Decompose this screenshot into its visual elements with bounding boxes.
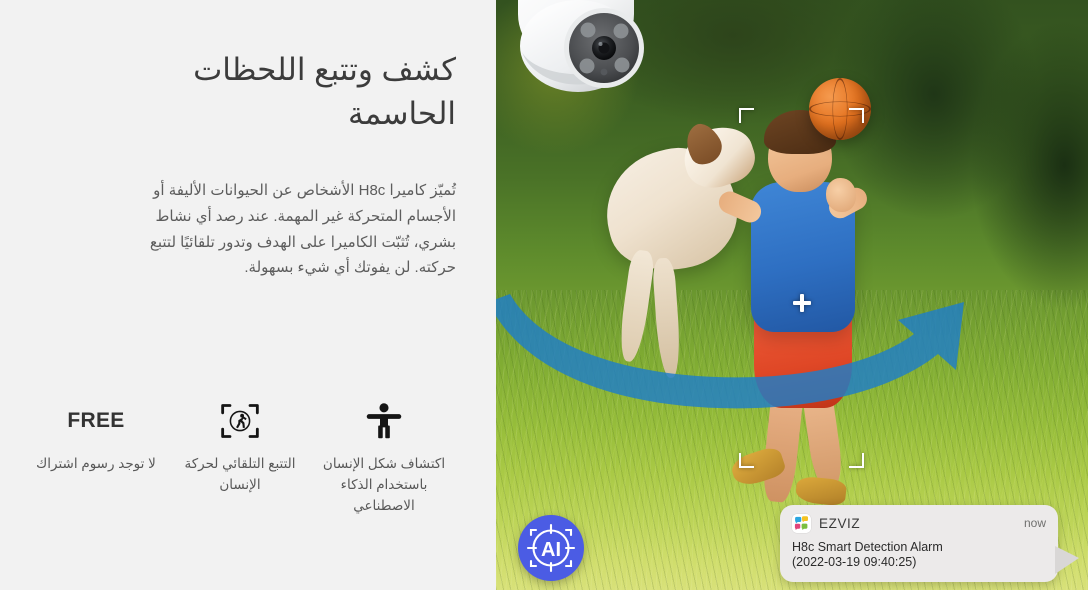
- product-feature-page: AI EZVIZ now H8c S: [0, 0, 1088, 590]
- feature-label: اكتشاف شكل الإنسان باستخدام الذكاء الاصط…: [312, 454, 456, 517]
- human-shape-detection-icon: [364, 398, 404, 444]
- human-tracking-frame: [739, 108, 864, 468]
- notification-tail: [1055, 546, 1079, 574]
- notification-app-name: EZVIZ: [819, 516, 860, 531]
- tracking-bracket-bottom-right: [849, 453, 864, 468]
- feature-auto-tracking: التتبع التلقائي لحركة الإنسان: [168, 398, 312, 517]
- push-notification-card[interactable]: EZVIZ now H8c Smart Detection Alarm (202…: [780, 505, 1058, 582]
- page-title: كشف وتتبع اللحظات الحاسمة: [126, 48, 456, 136]
- crosshair-icon: [793, 294, 811, 312]
- feature-label: لا توجد رسوم اشتراك: [36, 454, 156, 475]
- notification-header: EZVIZ now: [792, 514, 1046, 533]
- tracking-bracket-top-right: [849, 108, 864, 123]
- hero-image: AI EZVIZ now H8c S: [496, 0, 1088, 590]
- tracking-bracket-top-left: [739, 108, 754, 123]
- ai-badge: AI: [518, 515, 584, 581]
- feature-list: اكتشاف شكل الإنسان باستخدام الذكاء الاصط…: [24, 398, 456, 517]
- tracking-bracket-bottom-left: [739, 453, 754, 468]
- auto-tracking-icon: [219, 398, 261, 444]
- ptz-camera-icon: [504, 0, 654, 112]
- feature-human-shape-detection: اكتشاف شكل الإنسان باستخدام الذكاء الاصط…: [312, 398, 456, 517]
- notification-time: now: [1024, 516, 1046, 530]
- panel-text-block: كشف وتتبع اللحظات الحاسمة تُميّز كاميرا …: [40, 48, 456, 281]
- notification-title: H8c Smart Detection Alarm: [792, 540, 1046, 556]
- info-panel: كشف وتتبع اللحظات الحاسمة تُميّز كاميرا …: [0, 0, 496, 590]
- notification-body: H8c Smart Detection Alarm (2022-03-19 09…: [792, 540, 1046, 571]
- feature-free-subscription: FREE لا توجد رسوم اشتراك: [24, 398, 168, 517]
- ai-badge-label: AI: [541, 539, 561, 561]
- ezviz-app-icon: [792, 514, 811, 533]
- free-label: FREE: [67, 409, 124, 433]
- notification-timestamp: (2022-03-19 09:40:25): [792, 555, 1046, 571]
- panel-description: تُميّز كاميرا H8c الأشخاص عن الحيوانات ا…: [136, 178, 456, 281]
- free-text-badge: FREE: [67, 398, 124, 444]
- feature-label: التتبع التلقائي لحركة الإنسان: [168, 454, 312, 496]
